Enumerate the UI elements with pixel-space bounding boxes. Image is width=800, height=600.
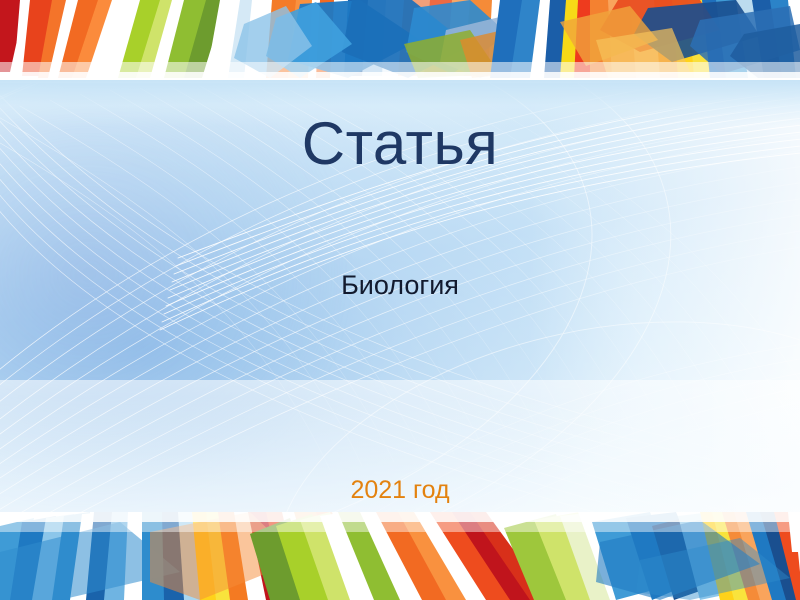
slide-year: 2021 год xyxy=(0,476,800,505)
slide-subtitle: Биология xyxy=(0,270,800,301)
presentation-slide: Статья Биология 2021 год xyxy=(0,0,800,600)
bottom-decorative-border xyxy=(0,512,800,600)
top-decorative-border xyxy=(0,0,800,83)
slide-title: Статья xyxy=(0,112,800,175)
